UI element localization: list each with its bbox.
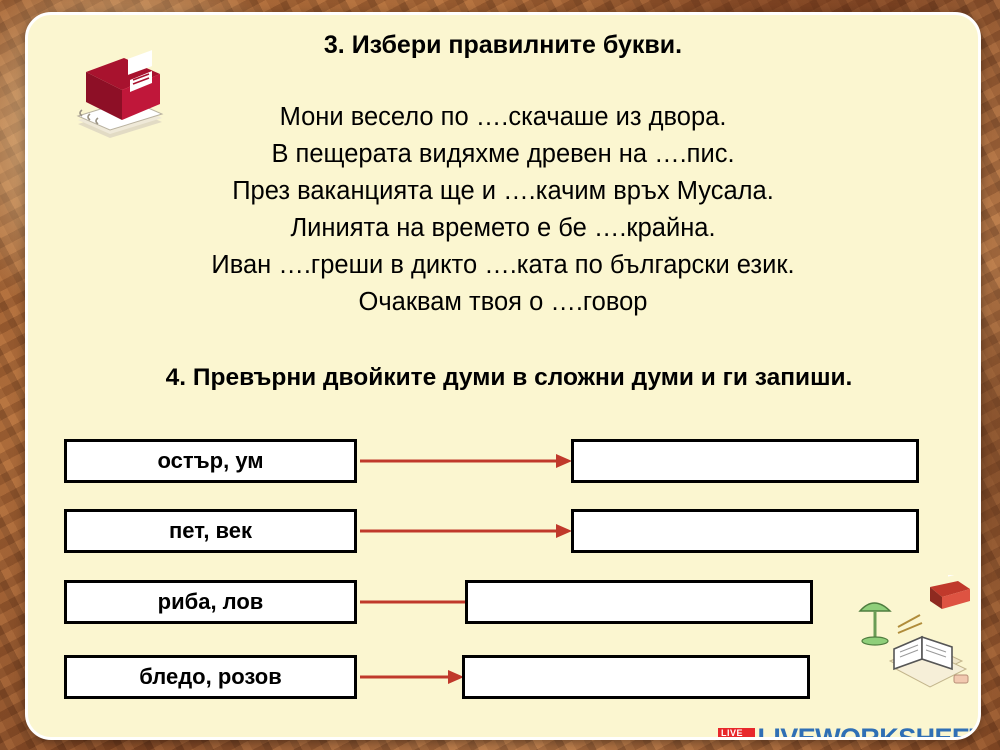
- pair-row: риба, лов: [28, 580, 978, 624]
- answer-input-4[interactable]: [462, 655, 810, 699]
- answer-input-1[interactable]: [571, 439, 919, 483]
- answer-input-2[interactable]: [571, 509, 919, 553]
- sentence-line: Очаквам твоя о ….говор: [28, 284, 978, 321]
- sentence-line: Линията на времето е бе ….крайна.: [28, 210, 978, 247]
- sentence-line: През ваканцията ще и ….качим връх Мусала…: [28, 173, 978, 210]
- arrow-icon: [360, 670, 464, 684]
- worksheet-card: 3. Избери правилните букви. Мони весело …: [25, 12, 981, 740]
- logo-badge: LIVE WORK: [718, 728, 755, 740]
- arrow-icon: [360, 454, 572, 468]
- sentence-line: Иван ….греши в дикто ….ката по български…: [28, 247, 978, 284]
- logo-badge-work: WORK: [718, 738, 755, 740]
- word-pair-box: остър, ум: [64, 439, 357, 483]
- pair-row: пет, век: [28, 509, 978, 553]
- logo-wordmark: LIVEWORKSHEETS: [758, 723, 982, 741]
- worksheet-page: 3. Избери правилните букви. Мони весело …: [0, 0, 1000, 750]
- word-pair-box: риба, лов: [64, 580, 357, 624]
- arrow-icon: [360, 524, 572, 538]
- answer-input-3[interactable]: [465, 580, 813, 624]
- exercise-4-heading: 4. Превърни двойките думи в сложни думи …: [34, 364, 981, 392]
- desk-lamp-book-icon: [854, 575, 978, 695]
- pair-row: остър, ум: [28, 439, 978, 483]
- word-pair-box: бледо, розов: [64, 655, 357, 699]
- word-pair-box: пет, век: [64, 509, 357, 553]
- logo-badge-live: LIVE: [718, 728, 755, 738]
- sentence-line: Мони весело по ….скачаше из двора.: [28, 99, 978, 136]
- exercise-3-heading: 3. Избери правилните букви.: [28, 31, 978, 60]
- exercise-3-sentences: Мони весело по ….скачаше из двора. В пещ…: [28, 99, 978, 321]
- sentence-line: В пещерата видяхме древен на ….пис.: [28, 136, 978, 173]
- pair-row: бледо, розов: [28, 655, 978, 699]
- liveworksheets-logo[interactable]: LIVE WORK LIVEWORKSHEETS: [718, 721, 981, 740]
